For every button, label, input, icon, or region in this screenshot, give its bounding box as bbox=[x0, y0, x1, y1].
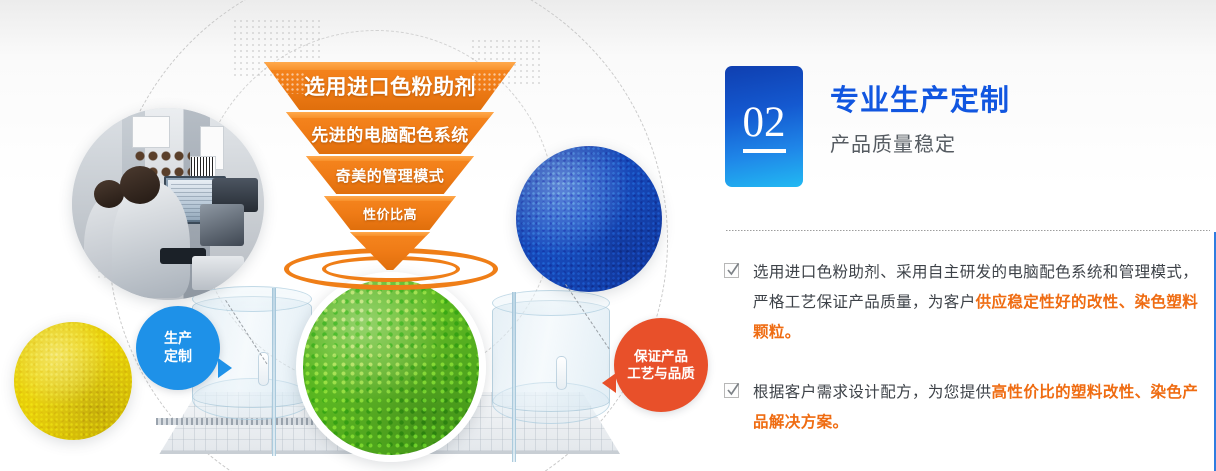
section-title: 专业生产定制 bbox=[830, 84, 1010, 119]
bullet-2-line-1: 根据客户需求设计配方，为您提供高性价比的塑料改性、染色产 bbox=[753, 378, 1198, 408]
bullet-1-line-2: 严格工艺保证产品质量，为客户供应稳定性好的改性、染色塑料 bbox=[753, 288, 1198, 318]
checkbox-checked-icon bbox=[724, 383, 739, 398]
section-subtitle: 产品质量稳定 bbox=[830, 128, 1010, 157]
glass-divider-right bbox=[512, 292, 516, 462]
badge-tail-orange bbox=[602, 373, 616, 393]
bullet-1-line-1: 选用进口色粉助剂、采用自主研发的电脑配色系统和管理模式， bbox=[753, 258, 1198, 288]
glass-divider-left bbox=[272, 288, 276, 456]
feature-bullet-2-text: 根据客户需求设计配方，为您提供高性价比的塑料改性、染色产 品解决方案。 bbox=[753, 378, 1198, 438]
section-number-badge: 02 bbox=[725, 66, 803, 187]
feature-bullet-2: 根据客户需求设计配方，为您提供高性价比的塑料改性、染色产 品解决方案。 bbox=[724, 378, 1198, 438]
section-number: 02 bbox=[743, 101, 786, 153]
feature-bullet-1-text: 选用进口色粉助剂、采用自主研发的电脑配色系统和管理模式， 严格工艺保证产品质量，… bbox=[753, 258, 1198, 348]
funnel-label-2: 先进的电脑配色系统 bbox=[286, 112, 494, 154]
yellow-powder-texture bbox=[14, 322, 132, 440]
bullet-2-line-2: 品解决方案。 bbox=[753, 408, 1198, 438]
section-heading-block: 专业生产定制 产品质量稳定 bbox=[830, 84, 1010, 157]
lab-technicians-photo bbox=[72, 108, 264, 300]
glass-cylinder-right-top bbox=[492, 290, 610, 316]
funnel-layer-2: 先进的电脑配色系统 bbox=[286, 112, 494, 154]
granule-texture bbox=[303, 279, 479, 455]
bullet-1-line-3: 颗粒。 bbox=[753, 318, 1198, 348]
production-customization-badge[interactable]: 生产 定制 bbox=[136, 306, 220, 390]
feature-bullet-1: 选用进口色粉助剂、采用自主研发的电脑配色系统和管理模式， 严格工艺保证产品质量，… bbox=[724, 258, 1198, 348]
checkbox-checked-icon bbox=[724, 263, 739, 278]
glass-cylinder-right bbox=[492, 300, 610, 412]
dotted-divider bbox=[726, 230, 1210, 231]
blue-powder-texture bbox=[516, 146, 662, 292]
quality-guarantee-badge-label: 保证产品 工艺与品质 bbox=[627, 348, 695, 383]
production-customization-badge-label: 生产 定制 bbox=[164, 330, 192, 366]
glass-handle-right bbox=[556, 356, 567, 390]
lab-photo-content bbox=[72, 108, 264, 300]
product-illustration-panel: 选用进口色粉助剂 先进的电脑配色系统 奇美的管理模式 性价比高 生产 定制 bbox=[0, 0, 716, 471]
badge-tail-blue bbox=[218, 358, 232, 378]
blue-pigment-powder bbox=[516, 146, 662, 292]
funnel-layer-1: 选用进口色粉助剂 bbox=[264, 62, 516, 110]
promo-banner: 选用进口色粉助剂 先进的电脑配色系统 奇美的管理模式 性价比高 生产 定制 bbox=[0, 0, 1216, 471]
funnel-label-1: 选用进口色粉助剂 bbox=[264, 62, 516, 110]
quality-guarantee-badge[interactable]: 保证产品 工艺与品质 bbox=[614, 318, 708, 412]
green-plastic-granules bbox=[296, 272, 486, 462]
yellow-pigment-powder bbox=[14, 322, 132, 440]
section-content-panel: 02 专业生产定制 产品质量稳定 选用进口色粉助剂、采用自主研发的电脑配色系统和… bbox=[716, 0, 1216, 471]
